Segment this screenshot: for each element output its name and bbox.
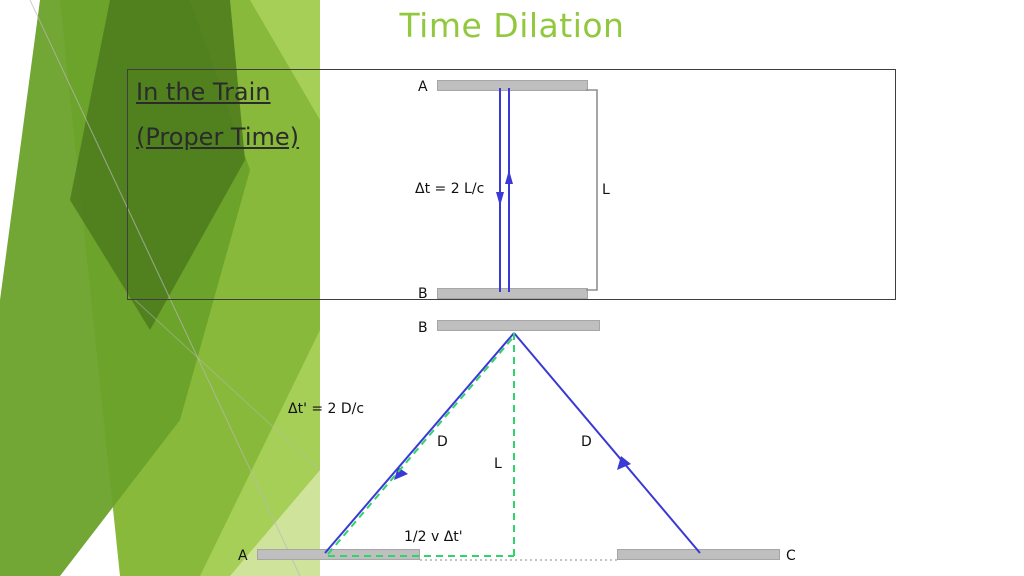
bottom-light-path — [0, 0, 1024, 576]
label-side-d-right: D — [581, 434, 592, 450]
label-point-c-bottom: C — [786, 548, 796, 564]
label-base-half-v-delta-t: 1/2 v Δt' — [404, 529, 463, 545]
label-length-l-bottom: L — [494, 456, 502, 472]
equation-delta-t-prime: Δt' = 2 D/c — [288, 401, 364, 417]
label-point-b-bottom: B — [418, 320, 428, 336]
label-side-d-left: D — [437, 434, 448, 450]
label-point-a-bottom: A — [238, 548, 248, 564]
slide-canvas: Time Dilation In the Train (Proper Time)… — [0, 0, 1024, 576]
